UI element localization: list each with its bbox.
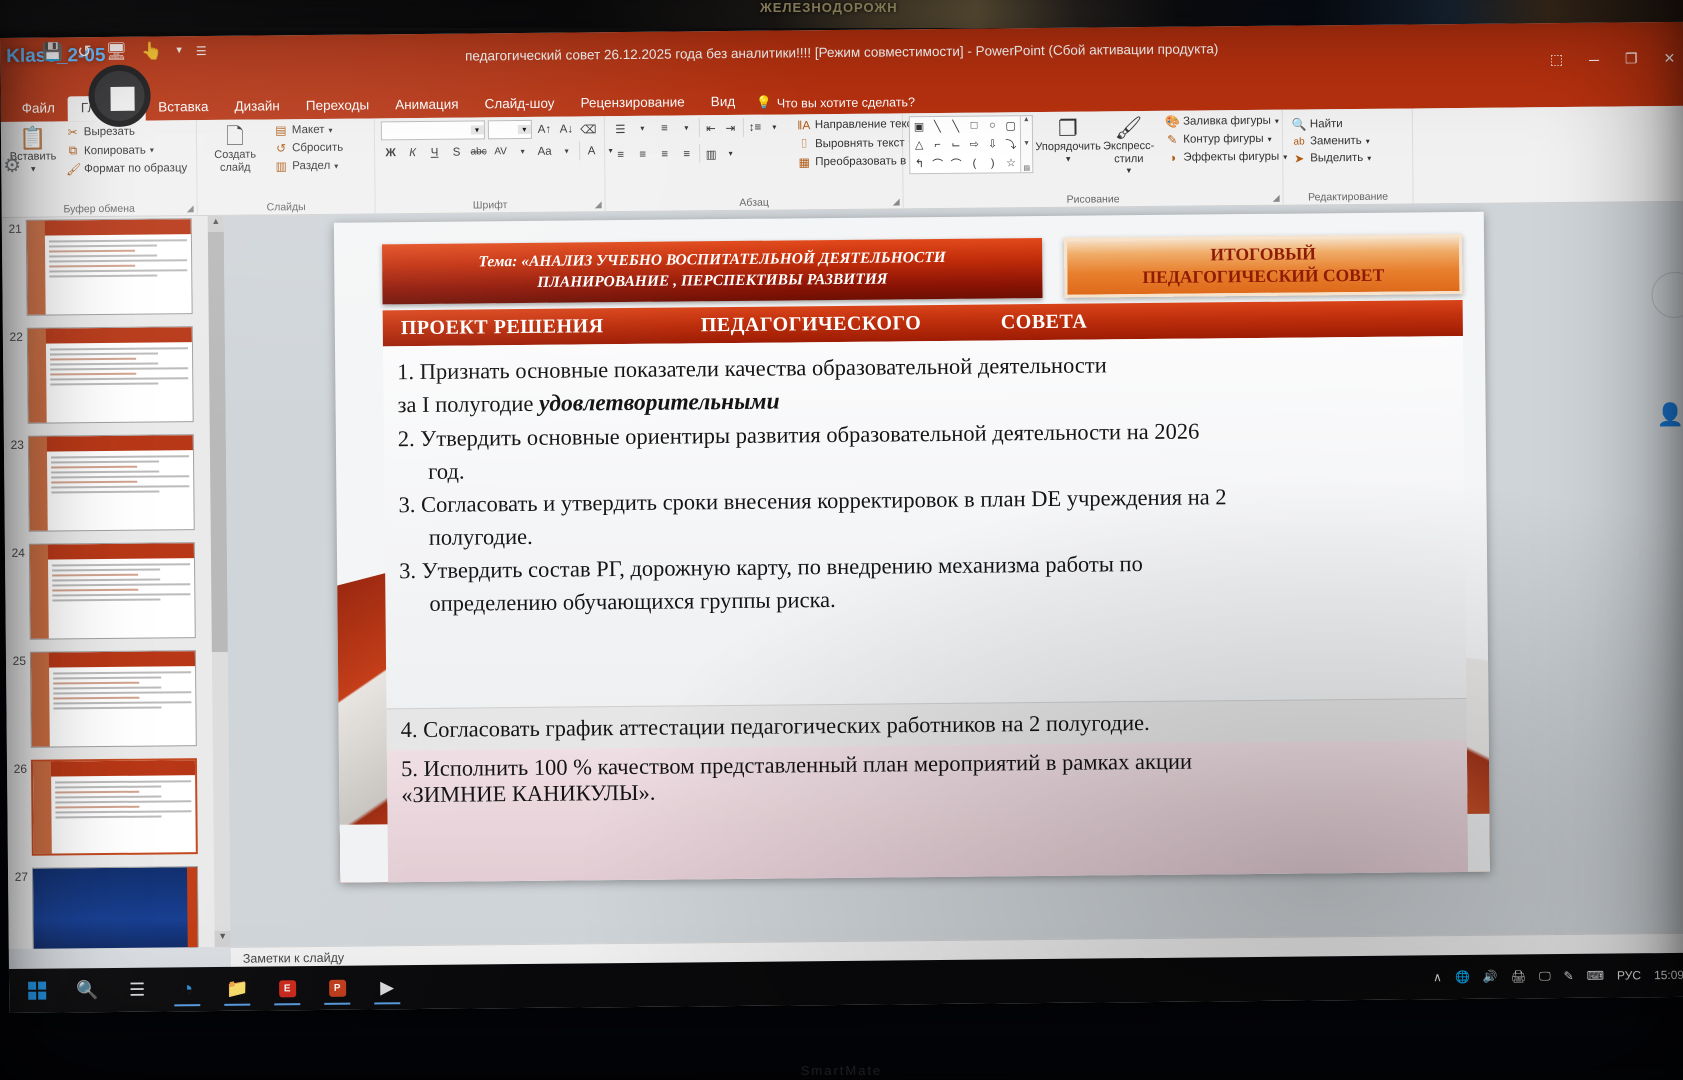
tab-animations[interactable]: Анимация (382, 92, 472, 118)
thumb-lines (51, 455, 189, 496)
thumb-sidebar (30, 545, 49, 639)
shapes-gallery[interactable]: ▣ ╲ ╲ □ ○ ▢ △ ⌐ ⌙ ⇨ ⇩ ⤵ ↰ (909, 115, 1022, 174)
thumbnail-number: 24 (9, 544, 29, 560)
thumb-lines (49, 239, 187, 280)
shape-elbow-icon[interactable]: ⌐ (934, 139, 941, 151)
select-label: Выделить (1310, 152, 1363, 165)
item-3-cont: полугодие. (429, 524, 533, 550)
group-label-editing: Редактирование (1284, 190, 1413, 203)
chevron-down-icon[interactable]: ▼ (1023, 140, 1030, 147)
round-overlay-button[interactable] (1651, 272, 1683, 318)
scroll-up-icon[interactable]: ▲ (208, 216, 224, 232)
thumbnail-slide-24[interactable]: 24 (9, 542, 196, 640)
ribbon-display-options-icon[interactable]: ⬚ (1550, 51, 1563, 68)
layout-icon: ▤ (274, 123, 288, 137)
ribbon-group-font: ▾ ▾ A↑ A↓ ⌫ Ж К Ч S abc AV (375, 116, 606, 213)
tab-review[interactable]: Рецензирование (567, 90, 697, 116)
topic-line-2: ПЛАНИРОВАНИЕ , ПЕРСПЕКТИВЫ РАЗВИТИЯ (479, 269, 947, 294)
thumbnail-image[interactable] (27, 326, 194, 424)
item-1-emphasis: удовлетворительными (539, 388, 780, 416)
paint-bucket-icon: 🎨 (1165, 115, 1179, 129)
chevron-down-icon[interactable]: ▾ (470, 125, 483, 134)
thumb-header (28, 327, 192, 344)
reset-icon: ↺ (274, 141, 288, 155)
align-right-button[interactable]: ≡ (655, 145, 674, 164)
system-tray[interactable]: ∧ 🌐 🔊 🖨 🖵 ✎ ⌨ РУС 15:09 (1433, 953, 1683, 999)
character-spacing-button[interactable]: AV (491, 142, 510, 161)
shapes-more-icon[interactable]: ▤ (1023, 164, 1030, 172)
final-council-badge[interactable]: ИТОГОВЫЙ ПЕДАГОГИЧЕСКИЙ СОВЕТ (1064, 234, 1463, 298)
shape-star-icon[interactable]: ☆ (1006, 156, 1016, 169)
shape-fill-button[interactable]: 🎨 Заливка фигуры ▾ (1162, 113, 1290, 130)
conference-side-panel[interactable]: 👤 (1651, 272, 1683, 572)
thumbnail-image[interactable] (29, 542, 196, 640)
chevron-down-icon[interactable]: ▾ (334, 161, 338, 170)
chevron-down-icon[interactable]: ▾ (518, 125, 531, 134)
minimize-icon[interactable]: ─ (1589, 51, 1599, 67)
chevron-down-icon[interactable]: ▾ (1366, 136, 1370, 145)
format-painter-label: Формат по образцу (84, 162, 187, 175)
play-glyph: ▶ (380, 977, 394, 998)
task-view-icon[interactable]: ☰ (115, 970, 159, 1010)
reset-button[interactable]: ↺ Сбросить (271, 140, 346, 157)
header-word-2: ПЕДАГОГИЧЕСКОГО (701, 311, 1001, 337)
thumb-lines (52, 563, 190, 604)
clock[interactable]: 15:09 (1654, 968, 1683, 982)
chevron-down-icon[interactable]: ▾ (677, 118, 696, 137)
thumbnail-image[interactable] (32, 866, 199, 949)
copy-label: Копировать (84, 144, 146, 157)
shape-arrow-down-icon[interactable]: ⇩ (988, 138, 997, 151)
webcam-overlay-circle (88, 65, 151, 128)
shape-triangle-icon[interactable]: △ (915, 139, 924, 152)
shape-ellipse-icon[interactable]: ○ (989, 120, 996, 132)
replace-button[interactable]: ab Заменить ▾ (1289, 134, 1406, 149)
smartart-icon: ▦ (797, 155, 811, 169)
thumbnail-slide-25[interactable]: 25 (10, 650, 197, 748)
columns-button[interactable]: ▥ (699, 144, 718, 163)
align-center-button[interactable]: ≡ (633, 145, 652, 164)
group-label-paragraph: Абзац (606, 195, 903, 210)
scroll-up-icon[interactable]: ▲ (1023, 116, 1030, 123)
increase-font-size-button[interactable]: A↑ (535, 120, 554, 139)
increase-indent-button[interactable]: ⇥ (721, 118, 740, 137)
item-3b-cont: определению обучающихся группы риска. (429, 587, 835, 616)
group-label-drawing: Рисование (904, 192, 1283, 208)
current-slide[interactable]: Тема: «АНАЛИЗ УЧЕБНО ВОСПИТАТЕЛЬНОЙ ДЕЯТ… (334, 212, 1490, 883)
thumbnail-slide-27[interactable]: 27 (12, 866, 199, 949)
chevron-down-icon[interactable]: ▾ (633, 119, 652, 138)
shape-outline-button[interactable]: ✎ Контур фигуры ▾ (1162, 131, 1290, 148)
shape-brace-right-icon[interactable]: ) (991, 157, 995, 169)
align-left-button[interactable]: ≡ (611, 145, 630, 164)
copy-button[interactable]: ⧉ Копировать ▾ (63, 141, 190, 159)
shape-line2-icon[interactable]: ╲ (952, 120, 959, 133)
chevron-down-icon[interactable]: ▾ (765, 117, 784, 136)
header-word-1: ПРОЕКТ РЕШЕНИЯ (401, 314, 701, 340)
text-direction-icon: ‖A (797, 118, 811, 132)
running-indicator (174, 1004, 200, 1006)
effects-icon: ◑ (1165, 151, 1179, 165)
change-case-button[interactable]: Aa (535, 142, 554, 161)
align-text-icon: ⌷ (797, 136, 811, 151)
chevron-down-icon[interactable]: ▾ (1268, 134, 1272, 143)
quick-styles-label: Экспресс-стили (1103, 140, 1154, 166)
ribbon-body: 📋 Вставить ▾ ✂ Вырезать ⧉ Копировать ▾ (1, 106, 1683, 218)
thumb-sidebar (31, 653, 50, 747)
header-word-3: СОВЕТА (1001, 310, 1088, 334)
edge-glyph: ◔ (181, 978, 193, 1001)
running-indicator (224, 1004, 250, 1006)
tab-file[interactable]: Файл (9, 96, 68, 122)
reset-label: Сбросить (292, 142, 343, 154)
file-explorer-icon[interactable]: 📁 (215, 969, 259, 1009)
strikethrough-button[interactable]: abc (469, 142, 488, 161)
running-indicator (274, 1003, 300, 1005)
section-button[interactable]: ▥ Раздел ▾ (271, 158, 346, 175)
ribbon-group-editing: 🔍 Найти ab Заменить ▾ ➤ Выделить ▾ Редак… (1283, 108, 1414, 204)
thumbnail-number: 25 (10, 652, 30, 668)
app-red-glyph: E (279, 980, 296, 997)
line-spacing-button[interactable]: ↕≡ (743, 118, 762, 137)
thumbnail-slide-22[interactable]: 22 (7, 326, 194, 424)
shape-elbow2-icon[interactable]: ⌙ (951, 138, 960, 151)
language-indicator[interactable]: РУС (1617, 968, 1641, 982)
group-label-clipboard: Буфер обмена (2, 202, 197, 216)
thumb-sidebar (28, 329, 47, 423)
copy-icon: ⧉ (66, 143, 80, 158)
thumb-lines (50, 347, 188, 388)
pencil-icon: ✎ (1165, 133, 1179, 147)
font-dialog-launcher[interactable]: ◢ (595, 199, 602, 210)
group-label-font: Шрифт (376, 198, 605, 212)
item-4-text: 4. Согласовать график аттестации педагог… (401, 709, 1150, 742)
decrease-indent-button[interactable]: ⇤ (699, 118, 718, 137)
thumb-sidebar (27, 221, 46, 315)
slide-canvas[interactable]: Тема: «АНАЛИЗ УЧЕБНО ВОСПИТАТЕЛЬНОЙ ДЕЯТ… (224, 202, 1683, 947)
room-banner-text: ЖЕЛЕЗНОДОРОЖН (760, 0, 898, 15)
search-icon[interactable]: 🔍 (65, 970, 109, 1010)
ribbon-group-paragraph: ☰ ▾ ≡ ▾ ⇤ ⇥ ↕≡ ▾ ≡ ≡ ≡ (605, 113, 904, 211)
replace-icon: ab (1292, 136, 1306, 147)
tab-insert[interactable]: Вставка (145, 95, 221, 121)
thumbnail-number: 26 (11, 760, 31, 776)
shape-arrow-right-icon[interactable]: ⇨ (970, 138, 979, 151)
quick-styles-icon: 🖌 (1114, 116, 1142, 140)
shape-effects-button[interactable]: ◑ Эффекты фигуры ▾ (1162, 149, 1290, 166)
gear-icon[interactable]: ⚙ (3, 153, 29, 179)
tab-slideshow[interactable]: Слайд-шоу (471, 92, 567, 118)
thumb-header (27, 219, 191, 236)
scroll-down-icon[interactable]: ▼ (215, 931, 231, 947)
clear-formatting-icon[interactable]: ⌫ (579, 119, 598, 138)
font-name-input[interactable]: ▾ (381, 120, 485, 140)
app-red-icon[interactable]: E (265, 968, 309, 1008)
thumbnail-number: 21 (6, 220, 26, 236)
cursor-icon: ➤ (1292, 151, 1306, 165)
bullets-button[interactable]: ☰ (611, 119, 630, 138)
tab-transitions[interactable]: Переходы (293, 93, 383, 119)
numbering-button[interactable]: ≡ (655, 119, 674, 138)
thumbnail-number: 22 (7, 328, 27, 344)
screen-content: Klass_2-05 💾 ↺ 🖥 👆 ▾ ☰ педагогический со… (0, 22, 1683, 1013)
participant-icon[interactable]: 👤 (1657, 402, 1683, 428)
chevron-down-icon[interactable]: ▾ (721, 144, 740, 163)
scissors-icon: ✂ (66, 125, 80, 139)
justify-button[interactable]: ≡ (677, 144, 696, 163)
edge-icon[interactable]: ◔ (165, 969, 209, 1009)
section-icon: ▥ (274, 159, 288, 173)
start-button[interactable] (15, 970, 59, 1010)
shape-arrow-curve-icon[interactable]: ⤵ (1005, 136, 1016, 152)
thumb-header (30, 543, 194, 560)
shadow-button[interactable]: S (447, 143, 466, 162)
underline-button[interactable]: Ч (425, 143, 444, 162)
find-label: Найти (1310, 118, 1343, 130)
powerpoint-glyph: P (329, 979, 346, 996)
decision-item-5: 5. Исполнить 100 % качеством представлен… (387, 740, 1468, 882)
thumbnail-image[interactable] (30, 650, 197, 748)
shape-line-icon[interactable]: ╲ (934, 120, 941, 133)
thumb-accent (187, 867, 198, 949)
brush-icon: 🖌 (66, 162, 80, 176)
cut-label: Вырезать (84, 126, 135, 138)
printer-icon[interactable]: 🖨 (1511, 969, 1526, 983)
thumbnail-image[interactable] (31, 758, 198, 856)
chevron-down-icon[interactable]: ▾ (1275, 116, 1279, 125)
thumbnail-slide-23[interactable]: 23 (8, 434, 195, 532)
window-title: педагогический совет 26.12.2025 года без… (0, 37, 1683, 68)
align-text-label: Выровнять текст (815, 137, 905, 150)
tell-me-label: Что вы хотите сделать? (777, 95, 915, 110)
chevron-down-icon[interactable]: ▾ (328, 125, 332, 134)
layout-button[interactable]: ▤ Макет ▾ (271, 122, 346, 139)
new-slide-icon: 🗋 (226, 125, 244, 149)
item-2-cont: год. (428, 459, 465, 484)
arrange-button[interactable]: ❐ Упорядочить ▾ (1037, 114, 1099, 164)
thumbnail-image[interactable] (26, 218, 193, 316)
chevron-down-icon[interactable]: ▾ (150, 146, 154, 155)
shape-brace-left-icon[interactable]: ( (973, 157, 977, 169)
shape-outline-label: Контур фигуры (1183, 133, 1264, 146)
section-label: Раздел (292, 160, 330, 172)
running-indicator (324, 1003, 350, 1005)
thumb-sidebar (29, 437, 48, 531)
tab-view[interactable]: Вид (698, 90, 749, 115)
shape-textbox-icon[interactable]: ▣ (914, 120, 925, 133)
badge-line-2: ПЕДАГОГИЧЕСКИЙ СОВЕТ (1142, 265, 1384, 289)
search-icon: 🔍 (1292, 117, 1306, 131)
pen-icon[interactable]: ✎ (1564, 969, 1574, 983)
keyboard-icon[interactable]: ⌨ (1587, 969, 1604, 983)
shape-effects-label: Эффекты фигуры (1183, 151, 1279, 164)
drawing-dialog-launcher[interactable]: ◢ (1273, 193, 1280, 204)
quick-styles-button[interactable]: 🖌 Экспресс-стили ▾ (1103, 114, 1155, 176)
chevron-down-icon[interactable]: ▾ (1127, 166, 1132, 176)
chevron-down-icon[interactable]: ▾ (1367, 153, 1371, 162)
clipboard-dialog-launcher[interactable]: ◢ (187, 203, 194, 214)
ribbon-group-slides: 🗋 Создать слайд ▤ Макет ▾ ↺ Сбросить (197, 118, 376, 215)
find-button[interactable]: 🔍 Найти (1289, 116, 1406, 133)
thumbnail-slide-26[interactable]: 26 (11, 758, 198, 856)
replace-label: Заменить (1310, 135, 1362, 147)
display-icon[interactable]: 🖵 (1539, 969, 1551, 984)
restore-icon[interactable]: ❐ (1625, 50, 1638, 67)
thumb-lines (53, 671, 191, 712)
ribbon-group-drawing: ▣ ╲ ╲ □ ○ ▢ △ ⌐ ⌙ ⇨ ⇩ ⤵ ↰ (903, 110, 1284, 209)
new-slide-label: Создать слайд (203, 149, 267, 175)
arrange-label: Упорядочить (1035, 141, 1101, 154)
tell-me-box[interactable]: 💡 Что вы хотите сделать? (748, 90, 923, 115)
window-controls[interactable]: ⬚ ─ ❐ ✕ (1550, 50, 1676, 68)
badge-line-1: ИТОГОВЫЙ (1210, 244, 1316, 267)
notes-placeholder: Заметки к слайду (243, 951, 344, 966)
monitor-photo: ЖЕЛЕЗНОДОРОЖН Klass_2-05 💾 ↺ 🖥 👆 ▾ ☰ пед… (0, 0, 1683, 1080)
select-button[interactable]: ➤ Выделить ▾ (1289, 150, 1406, 167)
thumbnail-number: 27 (12, 868, 32, 884)
bold-button[interactable]: Ж (381, 143, 400, 162)
slide-thumbnail-pane[interactable]: 21 22 23 (2, 216, 231, 949)
tab-design[interactable]: Дизайн (221, 94, 293, 120)
shape-freeform-icon[interactable]: ↰ (915, 157, 924, 170)
thumbnail-slide-21[interactable]: 21 (6, 218, 193, 316)
thumb-lines (55, 780, 191, 821)
slide-topic-banner[interactable]: Тема: «АНАЛИЗ УЧЕБНО ВОСПИТАТЕЛЬНОЙ ДЕЯТ… (382, 238, 1043, 304)
font-name-value (382, 130, 471, 131)
layout-label: Макет (292, 124, 325, 136)
chevron-down-icon[interactable]: ▾ (557, 141, 576, 160)
lightbulb-icon: 💡 (756, 96, 772, 111)
folder-glyph: 📁 (226, 978, 249, 999)
chevron-down-icon[interactable]: ▾ (513, 142, 532, 161)
volume-icon[interactable]: 🔊 (1483, 970, 1498, 984)
paragraph-dialog-launcher[interactable]: ◢ (893, 196, 900, 207)
thumbnail-number: 23 (8, 436, 28, 452)
running-indicator (374, 1002, 400, 1004)
shapes-scrollbar[interactable]: ▲ ▼ ▤ (1021, 115, 1034, 173)
shape-curve-icon[interactable]: ⌒ (951, 155, 962, 171)
thumb-sidebar (33, 762, 52, 854)
font-color-button[interactable]: A (579, 141, 598, 160)
arrange-icon: ❐ (1058, 117, 1078, 141)
ribbon-group-clipboard: 📋 Вставить ▾ ✂ Вырезать ⧉ Копировать ▾ (1, 120, 198, 217)
group-label-slides: Слайды (198, 200, 375, 214)
chevron-down-icon[interactable]: ▾ (1066, 154, 1071, 164)
italic-button[interactable]: К (403, 143, 422, 162)
slide-body-textbox[interactable]: 1. Признать основные показатели качества… (383, 336, 1467, 804)
font-size-input[interactable]: ▾ (487, 120, 532, 139)
shape-fill-label: Заливка фигуры (1183, 115, 1271, 128)
thumb-header (31, 651, 195, 668)
item-1-lead: за I полугодие (397, 391, 539, 417)
close-icon[interactable]: ✕ (1663, 50, 1675, 67)
powerpoint-icon[interactable]: P (315, 968, 359, 1008)
shape-rect-icon[interactable]: □ (971, 120, 978, 132)
media-player-icon[interactable]: ▶ (365, 967, 409, 1007)
shape-arc-icon[interactable]: ⌒ (932, 156, 943, 172)
windows-logo-icon (28, 982, 46, 1000)
thumb-header (29, 435, 193, 452)
chevron-down-icon[interactable]: ▾ (31, 163, 36, 173)
decrease-font-size-button[interactable]: A↓ (557, 119, 576, 138)
monitor-brand-label: SmartMate (801, 1063, 883, 1078)
format-painter-button[interactable]: 🖌 Формат по образцу (63, 160, 190, 177)
thumb-header (33, 760, 195, 777)
thumbnail-image[interactable] (28, 434, 195, 532)
show-hidden-icons[interactable]: ∧ (1433, 970, 1442, 984)
network-icon[interactable]: 🌐 (1455, 970, 1470, 984)
shape-roundrect-icon[interactable]: ▢ (1005, 119, 1016, 132)
clipboard-icon: 📋 (19, 127, 47, 151)
new-slide-button[interactable]: 🗋 Создать слайд (203, 122, 267, 174)
